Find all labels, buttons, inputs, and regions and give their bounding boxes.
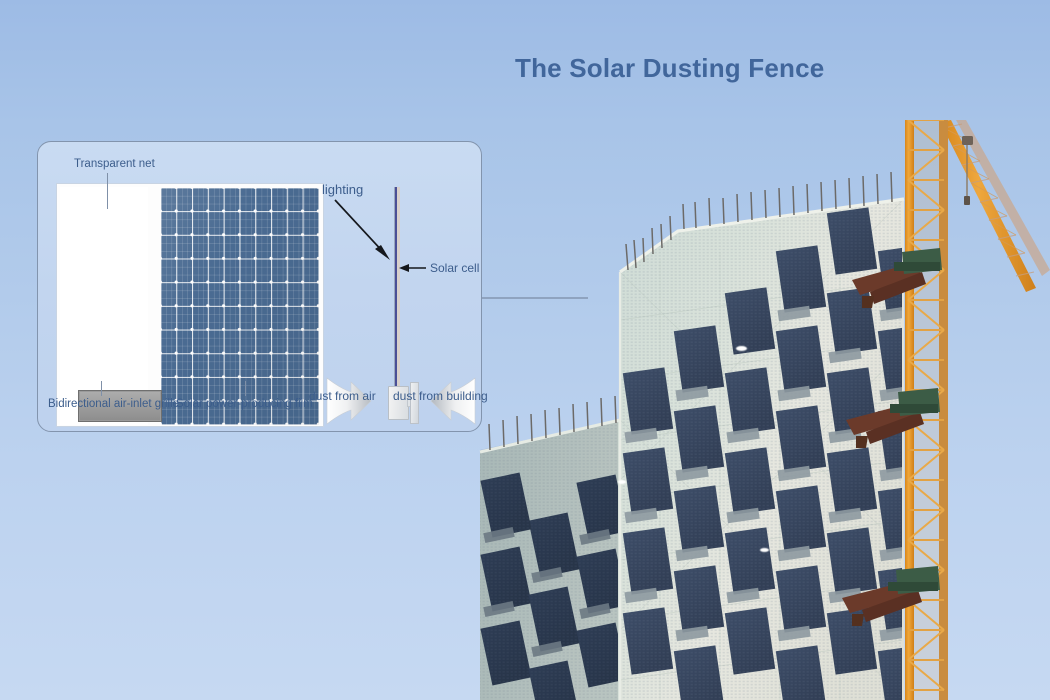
tower-crane-and-building-graphic	[470, 120, 1050, 700]
label-dust-from-air: dust from air	[309, 389, 376, 403]
sun-glint	[618, 480, 626, 484]
facade-solar-panels-left	[478, 410, 630, 700]
building-scene	[470, 120, 1050, 700]
callout-connector-line	[478, 297, 588, 299]
solar-cell-pointer-icon	[399, 264, 426, 272]
solar-dusting-fence-diagram-panel: Transparent net Bidirectional air-inlet …	[37, 141, 482, 432]
scene-root: Transparent net Bidirectional air-inlet …	[0, 0, 1050, 700]
sun-glint	[760, 548, 769, 552]
sun-glint	[736, 346, 747, 351]
page-title: The Solar Dusting Fence	[515, 53, 935, 84]
label-dust-from-building: dust from building	[393, 389, 488, 403]
lighting-arrow-icon	[335, 200, 390, 260]
